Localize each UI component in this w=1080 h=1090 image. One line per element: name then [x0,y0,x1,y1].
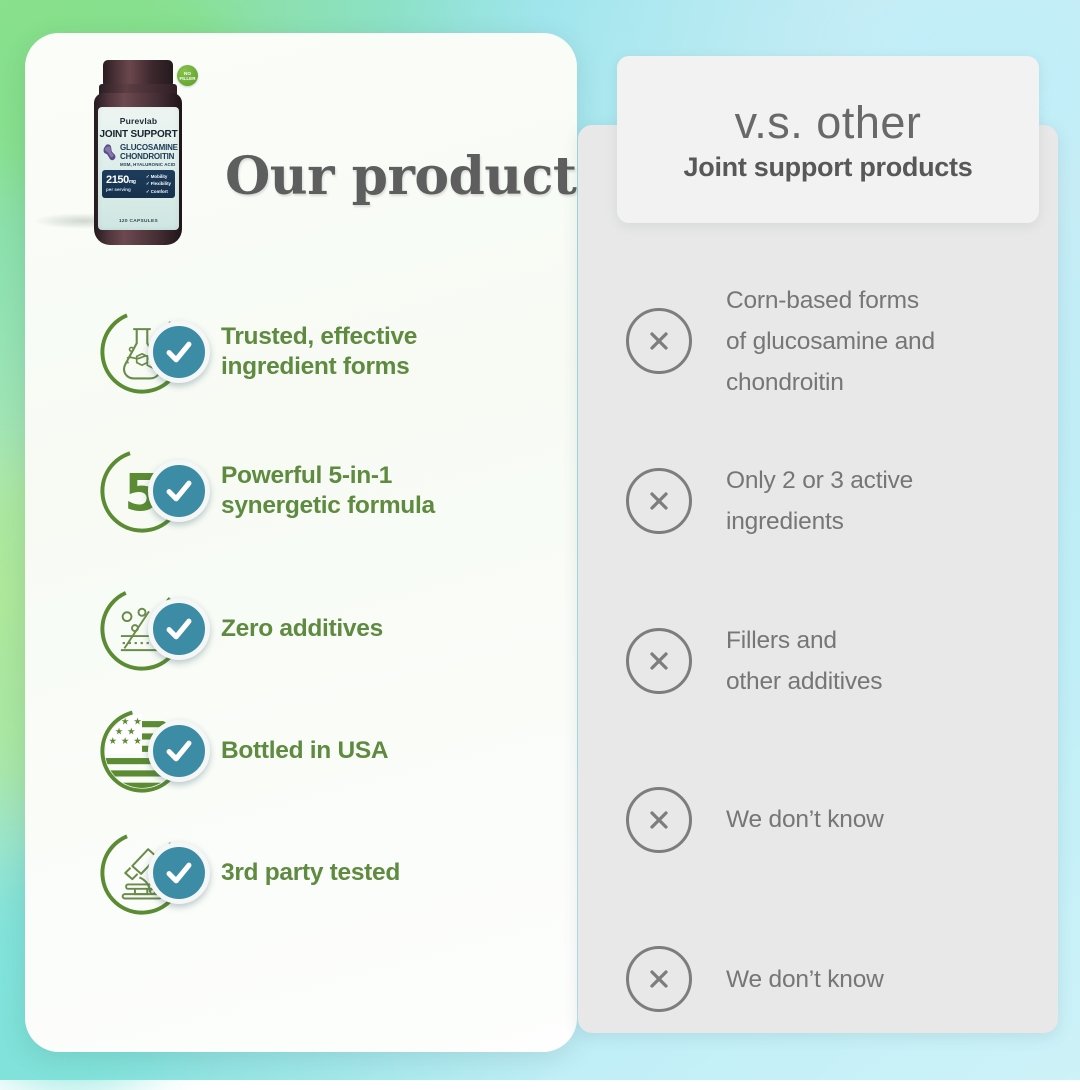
pro-item-zero-additives: Zero additives [93,568,555,690]
check-badge [148,842,210,904]
con-item-text: We don’t know [726,799,884,840]
page-title: Our product [225,146,576,207]
check-badge [148,321,210,383]
vs-other-header: v.s. other Joint support products [617,56,1039,223]
label-ingredients: GLUCOSAMINE CHONDROITIN [120,143,177,161]
label-dose-per: per serving [106,187,131,192]
cons-list: Corn-based forms of glucosamine and chon… [626,261,1032,1059]
label-benefit-2: ✓ Flexibility [146,180,171,187]
check-badge [148,460,210,522]
label-dose-amount: 2150mg [106,174,136,186]
x-circle-icon [626,787,692,853]
pro-item-third-party-tested: 3rd party tested [93,812,555,934]
svg-text:★: ★ [109,736,118,747]
pro-item-text: 3rd party tested [221,858,400,888]
pro-icon-group [93,823,221,923]
pro-text-line1: Trusted, effective [221,322,417,352]
pro-item-bottled-in-usa: ★★ ★★ ★★ ★★ Bottled in USA [93,690,555,812]
no-filler-line2: FILLER [179,76,195,81]
check-badge [148,720,210,782]
dose-unit: mg [129,179,136,185]
pro-text-line2: ingredient forms [221,352,417,382]
pro-text-line1: Zero additives [221,614,383,644]
con-text-line1: Only 2 or 3 active [726,460,913,501]
x-circle-icon [626,628,692,694]
svg-text:★: ★ [133,736,142,747]
pros-list: Trusted, effective ingredient forms 5 Po… [93,291,555,934]
con-item-fillers: Fillers and other additives [626,581,1032,740]
con-item-corn-based: Corn-based forms of glucosamine and chon… [626,261,1032,421]
joint-bone-icon [102,143,119,163]
con-text-line1: Corn-based forms [726,280,935,321]
pro-icon-group: 5 [93,441,221,541]
con-text-line2: ingredients [726,501,913,542]
bottle-cap [103,60,173,86]
con-text-line2: other additives [726,661,882,702]
label-dose-strip: 2150mg per serving ✓ Mobility ✓ Flexibil… [102,170,175,198]
pro-icon-group [93,579,221,679]
pro-text-line2: synergetic formula [221,491,435,521]
con-text-line2: of glucosamine and [726,321,935,362]
no-filler-badge: NO FILLER [177,65,198,86]
pro-item-text: Powerful 5-in-1 synergetic formula [221,461,435,521]
other-products-card: Corn-based forms of glucosamine and chon… [578,125,1058,1033]
con-item-text: Fillers and other additives [726,620,882,702]
label-product-name: JOINT SUPPORT [98,129,179,140]
pro-item-text: Trusted, effective ingredient forms [221,322,417,382]
con-item-text: We don’t know [726,959,884,1000]
con-text-line1: Fillers and [726,620,882,661]
dose-number: 2150 [106,174,129,186]
svg-text:★: ★ [121,736,130,747]
con-item-unknown-origin: We don’t know [626,740,1032,899]
pro-item-ingredient-forms: Trusted, effective ingredient forms [93,291,555,413]
pro-item-five-in-one: 5 Powerful 5-in-1 synergetic formula [93,413,555,568]
svg-text:★: ★ [133,717,142,728]
pro-text-line1: 3rd party tested [221,858,400,888]
con-text-line1: We don’t know [726,959,884,1000]
label-ingredients-sub: MSM, HYALURONIC ACID [120,162,177,167]
product-bottle-image: Purevlab JOINT SUPPORT GLUCOSAMINE CHOND… [81,60,196,250]
x-circle-icon [626,468,692,534]
con-item-text: Only 2 or 3 active ingredients [726,460,913,542]
label-benefit-1: ✓ Mobility [146,173,171,180]
con-text-line1: We don’t know [726,799,884,840]
pro-icon-group [93,302,221,402]
pro-icon-group: ★★ ★★ ★★ ★★ [93,701,221,801]
label-benefit-3: ✓ Comfort [146,188,171,195]
vs-subtitle: Joint support products [684,152,973,183]
label-ingredient-1: GLUCOSAMINE [120,143,177,152]
label-benefits: ✓ Mobility ✓ Flexibility ✓ Comfort [146,173,171,195]
pro-text-line1: Bottled in USA [221,736,388,766]
x-circle-icon [626,946,692,1012]
x-circle-icon [626,308,692,374]
label-brand: Purevlab [98,116,179,126]
vs-title: v.s. other [735,97,922,149]
label-ingredient-2: CHONDROITIN [120,152,177,161]
label-capsule-count: 120 CAPSULES [98,219,179,224]
check-badge [148,598,210,660]
con-item-unknown-testing: We don’t know [626,899,1032,1059]
pro-item-text: Bottled in USA [221,736,388,766]
pro-item-text: Zero additives [221,614,383,644]
con-item-few-ingredients: Only 2 or 3 active ingredients [626,421,1032,581]
bottle-label: Purevlab JOINT SUPPORT GLUCOSAMINE CHOND… [98,107,179,230]
con-text-line3: chondroitin [726,362,935,403]
our-product-card: Purevlab JOINT SUPPORT GLUCOSAMINE CHOND… [25,33,577,1052]
pro-text-line1: Powerful 5-in-1 [221,461,435,491]
con-item-text: Corn-based forms of glucosamine and chon… [726,280,935,403]
